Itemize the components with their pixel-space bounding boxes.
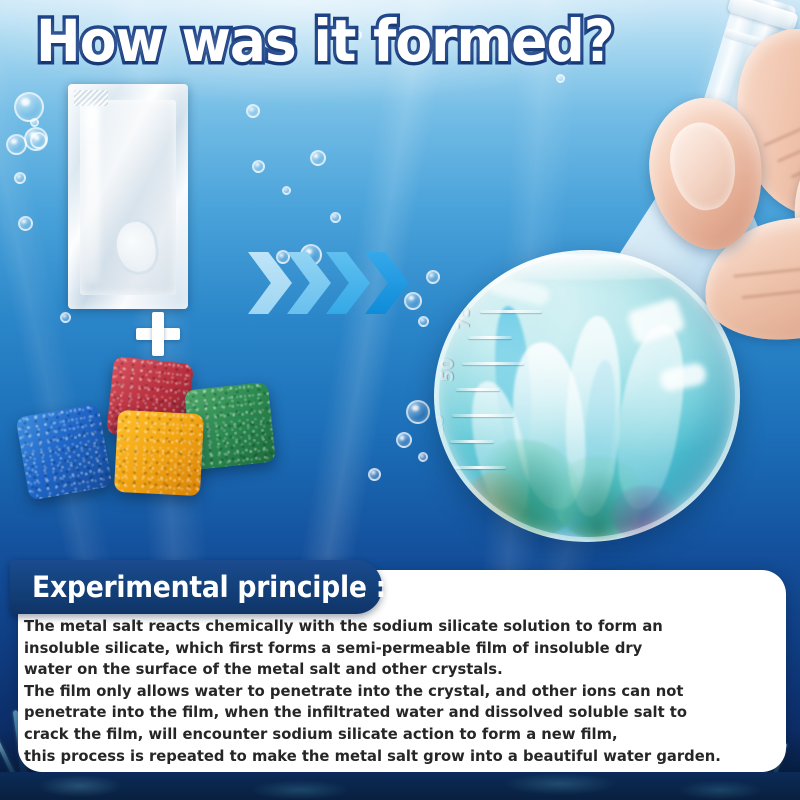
bubble-icon — [30, 118, 39, 127]
plus-icon-vertical-bar — [152, 312, 164, 356]
bubble-icon — [14, 92, 44, 122]
crystal-cubes-group — [18, 352, 308, 512]
poster-scene: How was it formed? — [0, 0, 800, 800]
blue-crystal-cube — [15, 403, 112, 500]
yellow-crystal-cube — [114, 410, 204, 496]
sachet-highlight — [84, 104, 100, 284]
bubble-icon — [24, 127, 48, 151]
bottom-strip-texture — [0, 772, 800, 800]
chevron-right-icon — [248, 252, 292, 314]
cube-texture — [114, 410, 204, 496]
principle-body-text: The metal salt reacts chemically with th… — [24, 616, 757, 767]
chevron-right-icon — [287, 252, 331, 314]
bubble-icon — [60, 312, 71, 323]
bubble-icon — [310, 150, 326, 166]
thumbnail — [664, 117, 742, 215]
bubble-icon — [282, 186, 291, 195]
bubble-icon — [246, 104, 260, 118]
hand-holding-flask — [642, 12, 800, 342]
experimental-principle-heading: Experimental principle : — [32, 568, 386, 606]
finger-crease — [790, 143, 800, 179]
flask-and-hand: 75 50 25 — [398, 0, 800, 560]
sodium-silicate-sachet — [68, 84, 188, 309]
experimental-principle-badge: Experimental principle : — [10, 560, 382, 614]
bubble-icon — [330, 212, 341, 223]
cube-texture — [15, 403, 112, 500]
bubble-icon — [14, 172, 26, 184]
bubble-icon — [252, 160, 265, 173]
chevron-right-icon — [326, 252, 370, 314]
finger-crease — [763, 105, 800, 147]
plus-icon — [136, 312, 180, 356]
bubble-icon — [368, 468, 381, 481]
bubble-icon — [18, 216, 33, 231]
finger-crease — [733, 262, 800, 278]
bubble-icon — [6, 134, 27, 155]
bottom-border-strip — [0, 772, 800, 800]
finger-crease — [742, 285, 800, 299]
